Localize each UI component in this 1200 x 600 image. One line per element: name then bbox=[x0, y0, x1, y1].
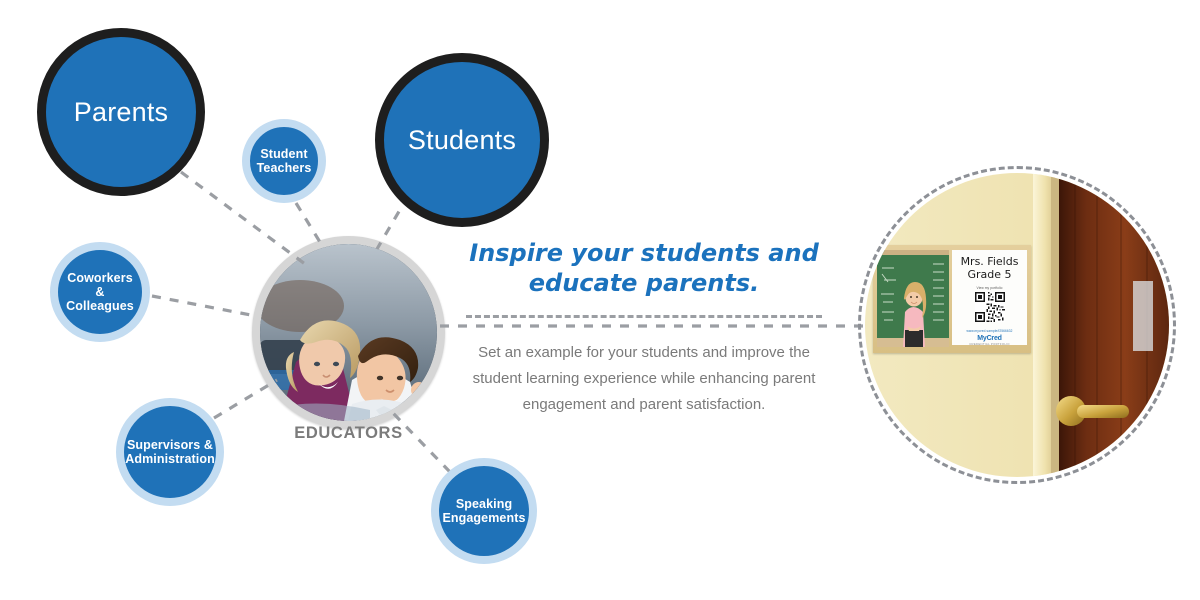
bubble-students[interactable]: Students bbox=[375, 53, 549, 227]
bubble-coworkers-colleagues[interactable]: Coworkers &Colleagues bbox=[50, 242, 150, 342]
bubble-parents[interactable]: Parents bbox=[37, 28, 205, 196]
bubble-students-label: Students bbox=[402, 125, 522, 155]
bubble-supervisors-administration-label: Supervisors &Administration bbox=[119, 438, 221, 466]
bubble-supervisors-administration[interactable]: Supervisors &Administration bbox=[116, 398, 224, 506]
bubble-student-teachers-label: StudentTeachers bbox=[251, 147, 318, 175]
body-copy: Set an example for your students and imp… bbox=[466, 340, 822, 417]
divider bbox=[466, 315, 822, 318]
bubble-parents-label: Parents bbox=[68, 97, 174, 127]
headline: Inspire your students and educate parent… bbox=[466, 238, 822, 298]
message-block: Inspire your students and educate parent… bbox=[466, 238, 822, 418]
bubble-speaking-engagements[interactable]: SpeakingEngagements bbox=[431, 458, 537, 564]
bubble-student-teachers[interactable]: StudentTeachers bbox=[242, 119, 326, 203]
infographic-canvas: EDUCATORS Parents Students StudentTeache… bbox=[0, 0, 1200, 600]
bubble-speaking-engagements-label: SpeakingEngagements bbox=[436, 497, 531, 525]
bubble-coworkers-colleagues-label: Coworkers &Colleagues bbox=[58, 271, 142, 313]
